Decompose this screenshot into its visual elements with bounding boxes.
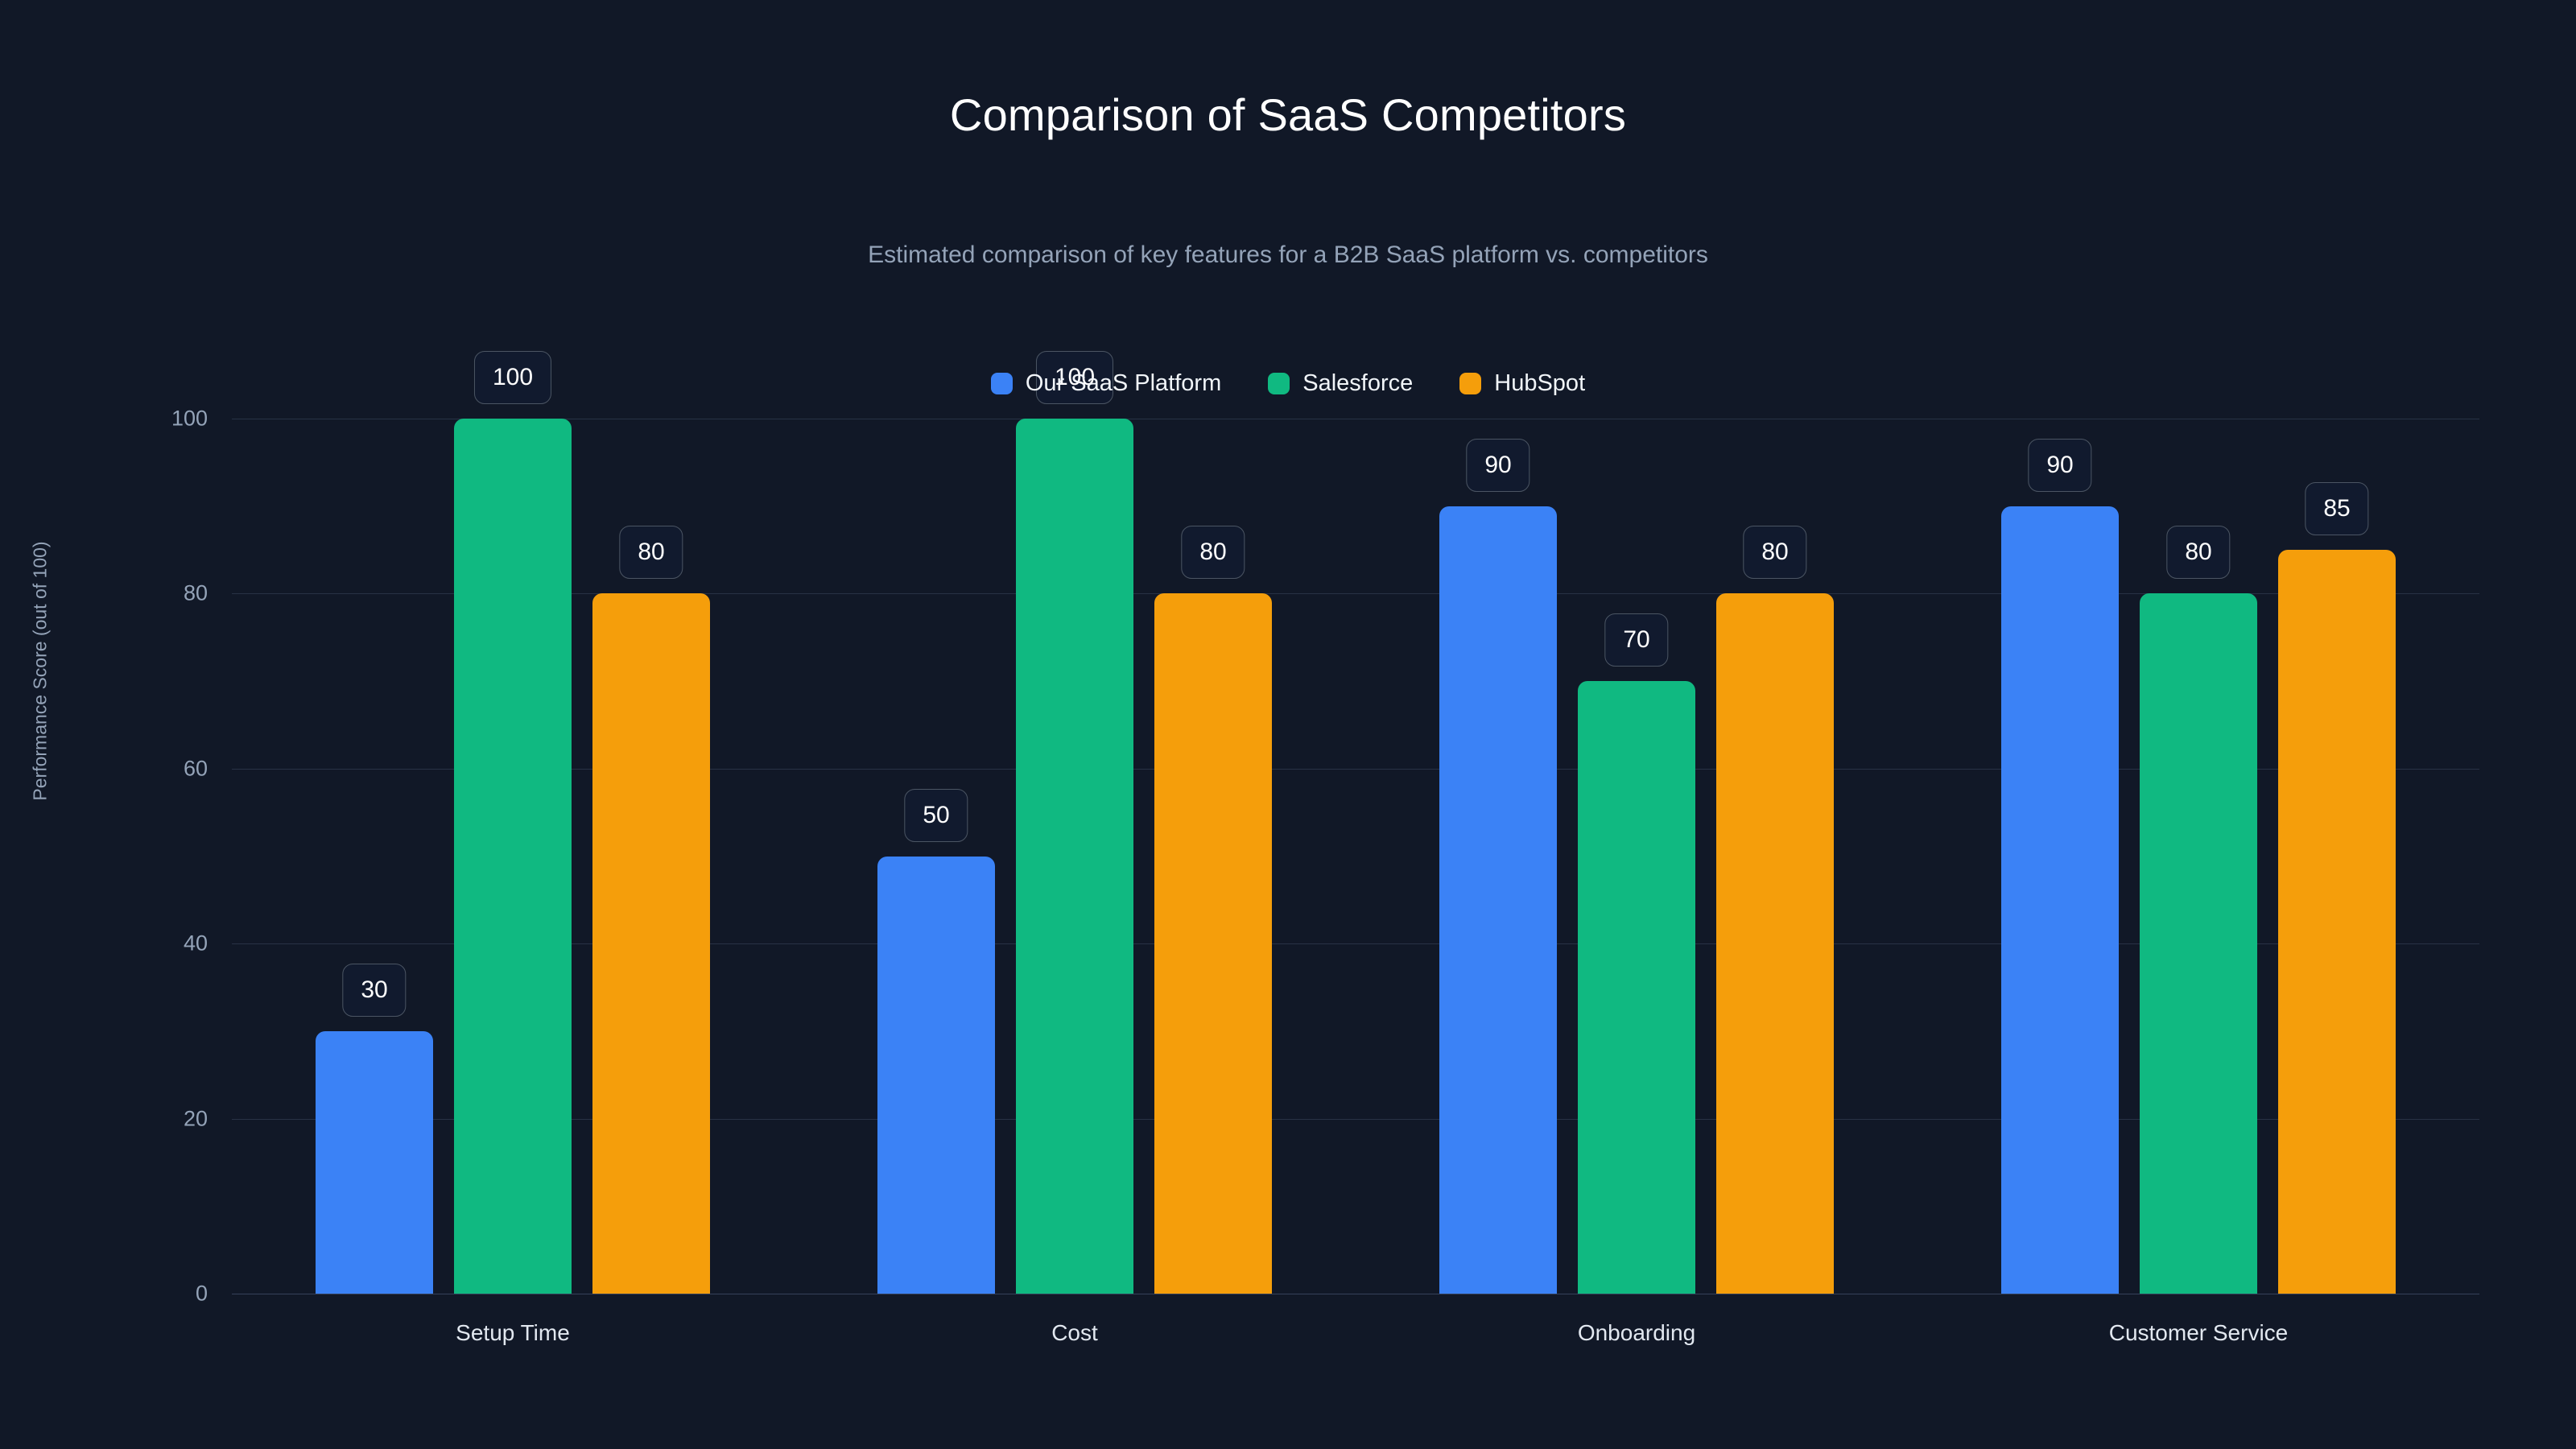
bar-value-label: 50	[904, 789, 968, 842]
y-axis-tick-label-40: 40	[87, 931, 208, 956]
legend-label-hubspot: HubSpot	[1494, 370, 1585, 397]
bar-setup-time-salesforce[interactable]: 100	[454, 419, 572, 1294]
bar-cost-our-saas-platform[interactable]: 50	[877, 857, 995, 1294]
bar-value-label: 80	[2166, 526, 2230, 579]
legend-item-our-saas-platform[interactable]: Our SaaS Platform	[991, 370, 1221, 397]
chart-subtitle: Estimated comparison of key features for…	[0, 242, 2576, 269]
legend-swatch-icon-our-saas-platform	[991, 373, 1013, 394]
bar-value-label: 90	[2028, 439, 2091, 492]
chart-title: Comparison of SaaS Competitors	[0, 89, 2576, 141]
bar-group-customer-service: 908085	[1918, 419, 2479, 1294]
x-axis-ticks: Setup TimeCostOnboardingCustomer Service	[232, 1320, 2479, 1368]
gridline-0	[232, 1294, 2479, 1294]
y-axis-tick-label-80: 80	[87, 581, 208, 606]
legend-swatch-icon-salesforce	[1268, 373, 1290, 394]
x-axis-tick-label-onboarding: Onboarding	[1356, 1320, 1918, 1368]
bar-group-setup-time: 3010080	[232, 419, 794, 1294]
bar-onboarding-hubspot[interactable]: 80	[1716, 593, 1834, 1294]
bar-value-label: 80	[619, 526, 683, 579]
y-axis-title: Performance Score (out of 100)	[30, 502, 52, 840]
chart-legend: Our SaaS Platform Salesforce HubSpot	[0, 370, 2576, 397]
bar-customer-service-hubspot[interactable]: 85	[2278, 550, 2396, 1294]
bar-value-label: 90	[1466, 439, 1529, 492]
bar-cost-hubspot[interactable]: 80	[1154, 593, 1272, 1294]
bar-setup-time-our-saas-platform[interactable]: 30	[316, 1031, 433, 1294]
x-axis-tick-label-customer-service: Customer Service	[1918, 1320, 2479, 1368]
y-axis-tick-label-0: 0	[87, 1282, 208, 1307]
y-axis-tick-label-100: 100	[87, 407, 208, 431]
x-axis-tick-label-cost: Cost	[794, 1320, 1356, 1368]
bar-value-label: 70	[1604, 613, 1668, 667]
bar-onboarding-our-saas-platform[interactable]: 90	[1439, 506, 1557, 1294]
bar-group-cost: 5010080	[794, 419, 1356, 1294]
legend-swatch-icon-hubspot	[1459, 373, 1481, 394]
x-axis-tick-label-setup-time: Setup Time	[232, 1320, 794, 1368]
bar-value-label: 85	[2305, 482, 2368, 535]
y-axis-tick-label-20: 20	[87, 1106, 208, 1131]
legend-item-hubspot[interactable]: HubSpot	[1459, 370, 1585, 397]
bar-onboarding-salesforce[interactable]: 70	[1578, 681, 1695, 1294]
bar-value-label: 30	[342, 964, 406, 1017]
bar-customer-service-salesforce[interactable]: 80	[2140, 593, 2257, 1294]
bar-setup-time-hubspot[interactable]: 80	[592, 593, 710, 1294]
bar-value-label: 80	[1743, 526, 1806, 579]
bar-cost-salesforce[interactable]: 100	[1016, 419, 1133, 1294]
bar-group-onboarding: 907080	[1356, 419, 1918, 1294]
bar-customer-service-our-saas-platform[interactable]: 90	[2001, 506, 2119, 1294]
chart-page: Comparison of SaaS Competitors Estimated…	[0, 0, 2576, 1449]
legend-label-salesforce: Salesforce	[1302, 370, 1413, 397]
y-axis-ticks: 100806040200	[71, 419, 208, 1294]
legend-item-salesforce[interactable]: Salesforce	[1268, 370, 1413, 397]
bar-value-label: 100	[474, 351, 551, 404]
y-axis-tick-label-60: 60	[87, 756, 208, 781]
bars-layer: 30100805010080907080908085	[232, 419, 2479, 1294]
bar-value-label: 80	[1181, 526, 1245, 579]
legend-label-our-saas-platform: Our SaaS Platform	[1026, 370, 1221, 397]
